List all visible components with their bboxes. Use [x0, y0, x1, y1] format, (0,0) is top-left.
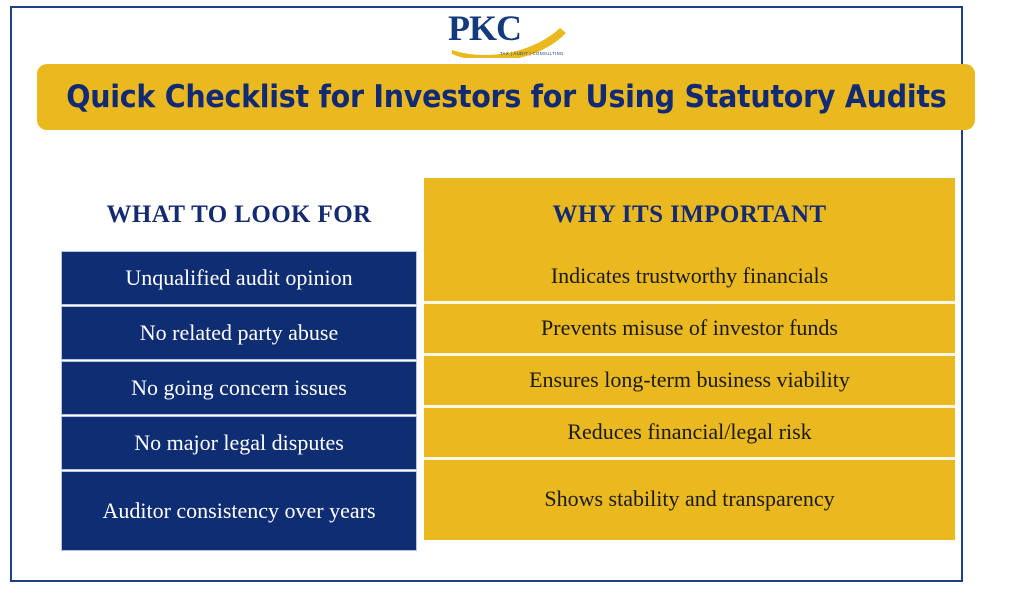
table-row: Ensures long-term business viability [424, 356, 955, 408]
svg-text:TAX | AUDIT | CONSULTING: TAX | AUDIT | CONSULTING [500, 51, 564, 56]
table-row: Reduces financial/legal risk [424, 408, 955, 460]
pkc-logo-icon: PKC TAX | AUDIT | CONSULTING [440, 8, 574, 58]
svg-text:PKC: PKC [448, 8, 521, 48]
title-banner: Quick Checklist for Investors for Using … [37, 64, 975, 130]
table-row: No going concern issues [62, 362, 416, 414]
brand-logo: PKC TAX | AUDIT | CONSULTING [0, 8, 1014, 58]
table-row: No major legal disputes [62, 417, 416, 469]
column-header-right: WHY ITS IMPORTANT [424, 178, 955, 252]
table-row: Unqualified audit opinion [62, 252, 416, 304]
table-row: Shows stability and transparency [424, 460, 955, 538]
column-header-left: WHAT TO LOOK FOR [62, 178, 416, 252]
column-why-its-important: WHY ITS IMPORTANT Indicates trustworthy … [424, 178, 955, 540]
table-row: Prevents misuse of investor funds [424, 304, 955, 356]
page-title: Quick Checklist for Investors for Using … [66, 79, 946, 115]
column-what-to-look-for: WHAT TO LOOK FOR Unqualified audit opini… [62, 178, 416, 553]
table-row: Auditor consistency over years [62, 472, 416, 550]
pkc-logo-svg: PKC TAX | AUDIT | CONSULTING [440, 8, 574, 58]
table-row: No related party abuse [62, 307, 416, 359]
checklist-table: WHAT TO LOOK FOR Unqualified audit opini… [62, 178, 955, 563]
infographic-canvas: PKC TAX | AUDIT | CONSULTING Quick Check… [0, 0, 1014, 601]
table-row: Indicates trustworthy financials [424, 252, 955, 304]
